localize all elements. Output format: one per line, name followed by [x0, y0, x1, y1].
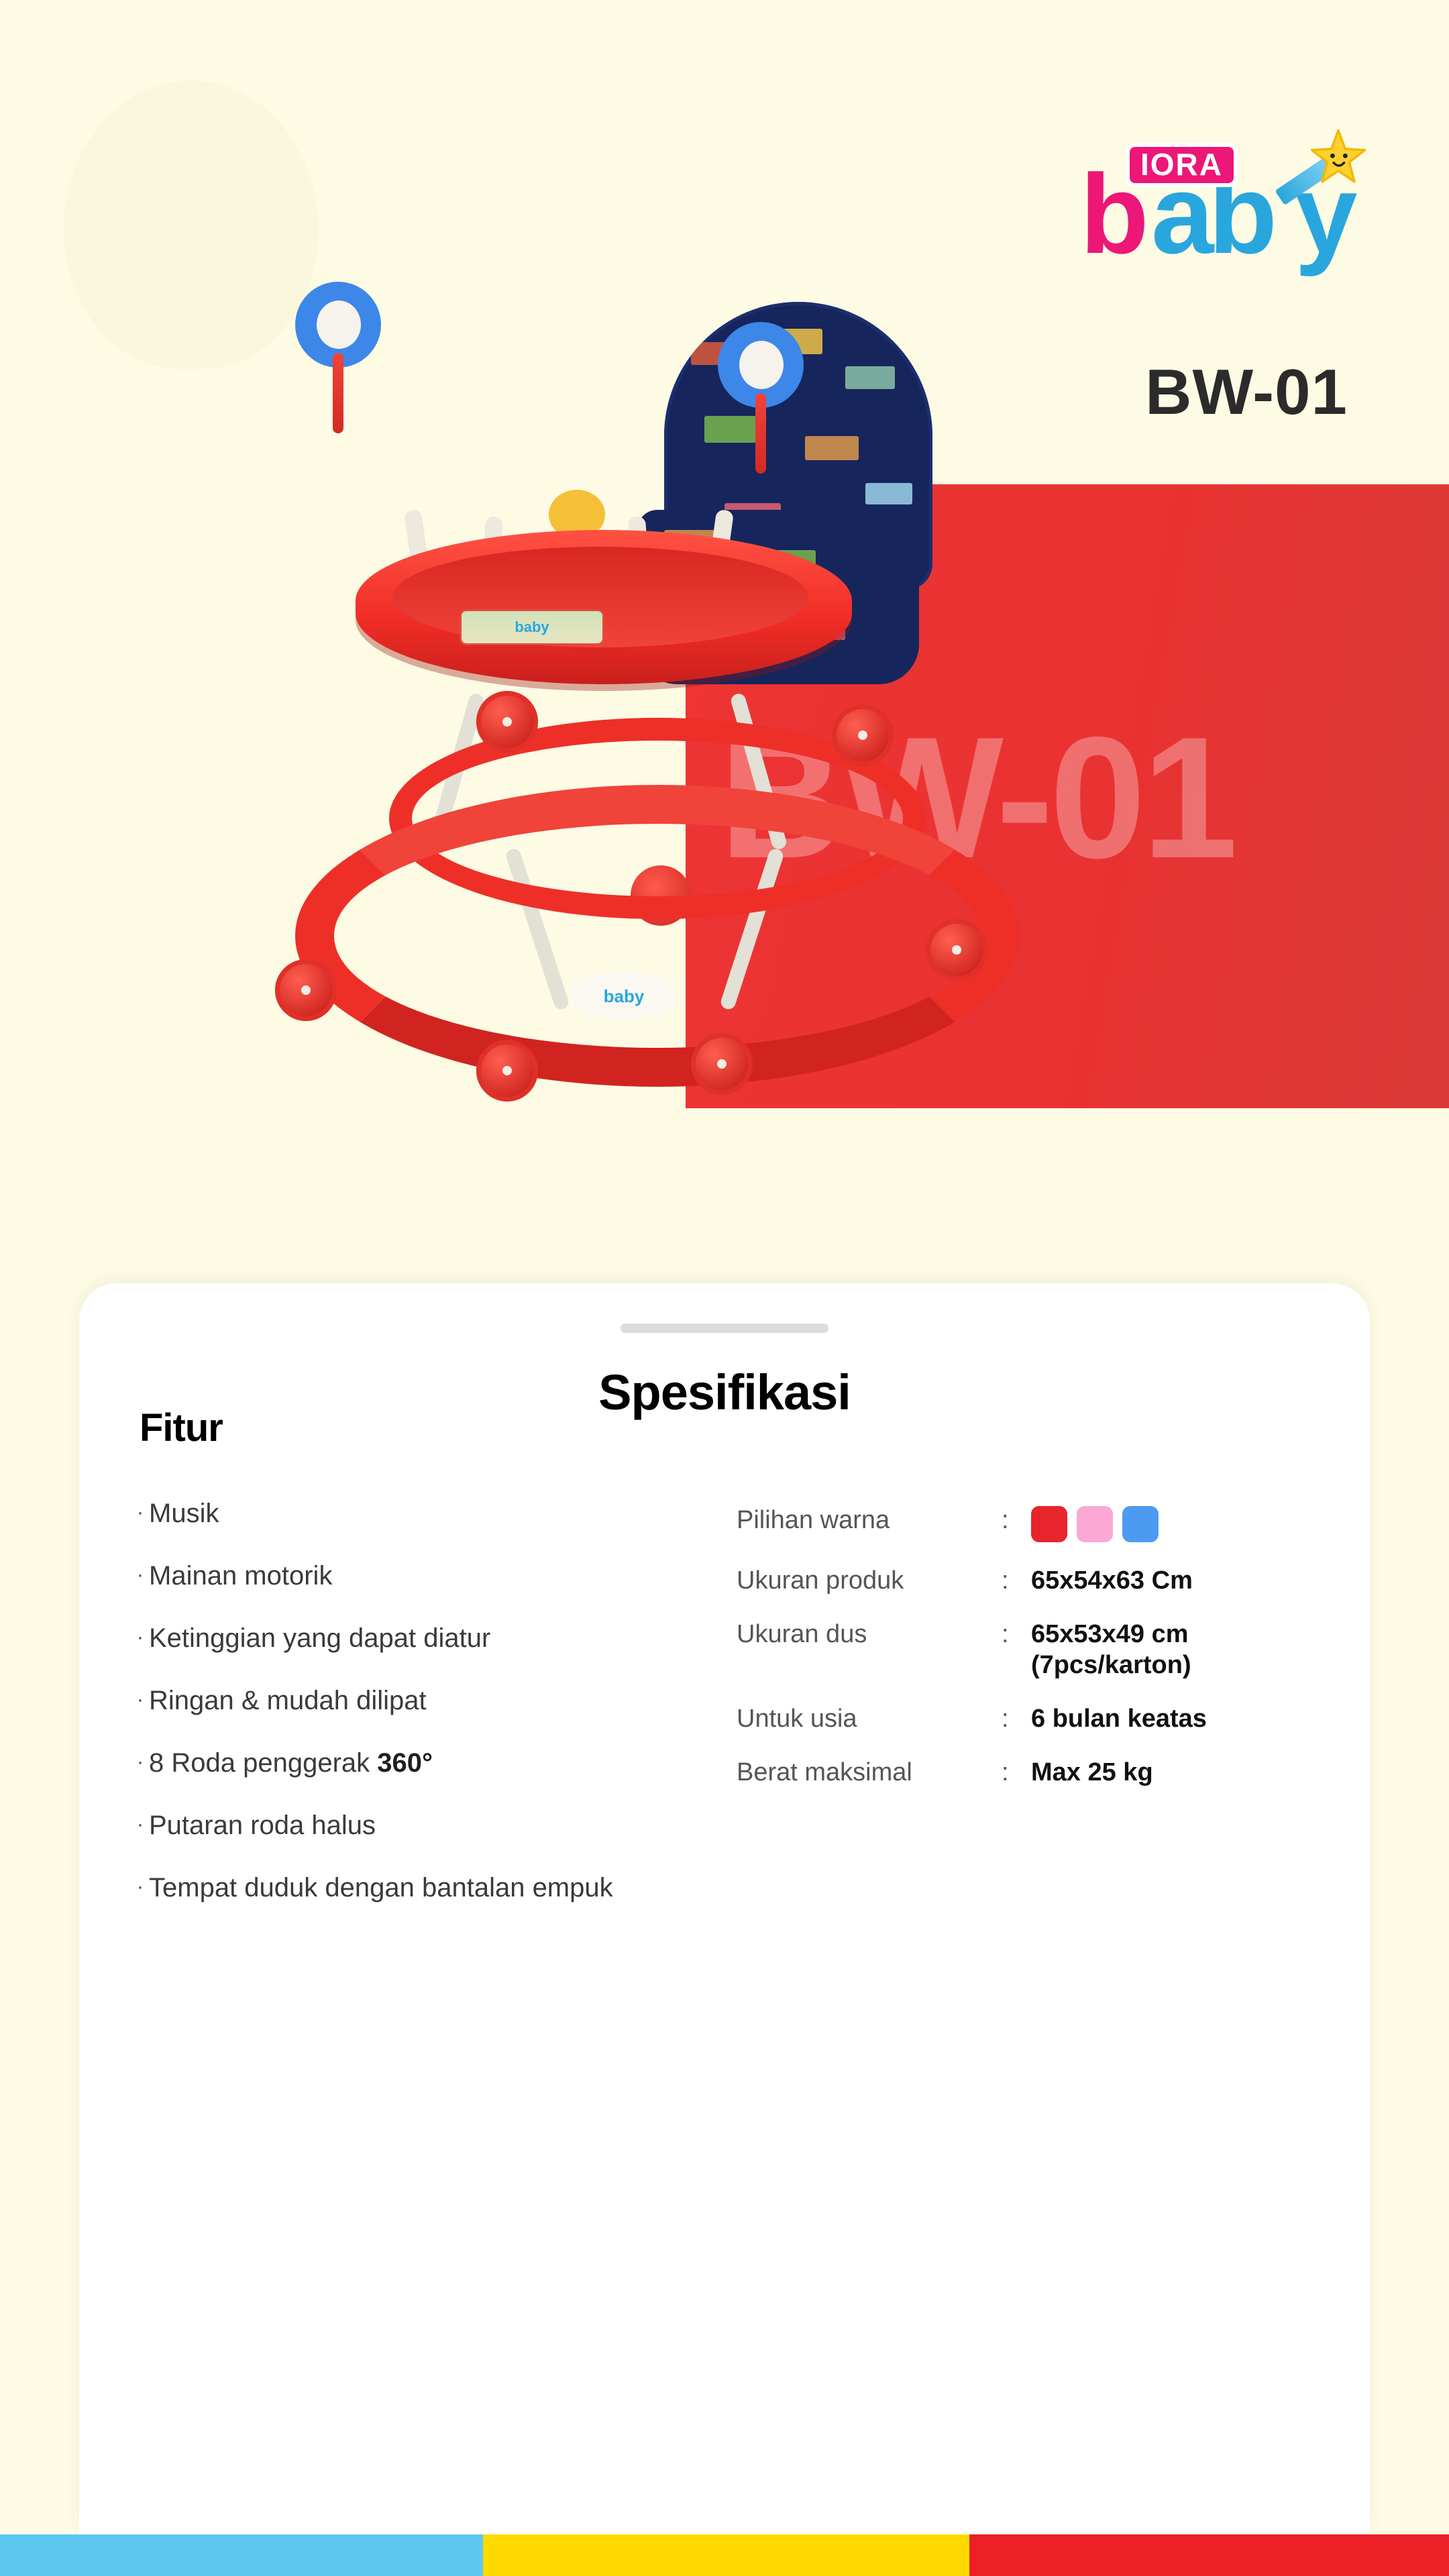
spec-row: Berat maksimal:Max 25 kg [737, 1757, 1327, 1788]
product-image-baby-walker: baby baby [282, 288, 1140, 1181]
feature-item: ·Mainan motorik [131, 1560, 809, 1591]
feature-label: Ringan & mudah dilipat [149, 1685, 427, 1716]
spec-value: 65x53x49 cm(7pcs/karton) [1031, 1619, 1191, 1680]
wheel-front-mid [476, 1040, 538, 1102]
spec-colon: : [1002, 1757, 1031, 1788]
feature-label: Musik [149, 1498, 219, 1529]
bullet-icon: · [131, 1872, 149, 1902]
color-swatch-pink[interactable] [1077, 1506, 1113, 1542]
feature-label: 8 Roda penggerak 360° [149, 1748, 433, 1778]
wheel-back-left [476, 691, 538, 753]
spec-row: Untuk usia:6 bulan keatas [737, 1703, 1327, 1734]
sheet-drag-handle[interactable] [621, 1324, 828, 1333]
star-icon [1309, 128, 1367, 186]
specification-card: Spesifikasi Fitur ·Musik·Mainan motorik·… [79, 1283, 1370, 2534]
spec-label: Berat maksimal [737, 1757, 1002, 1788]
wheel-back-right [832, 704, 894, 766]
spec-label: Pilihan warna [737, 1505, 1002, 1536]
features-list: ·Musik·Mainan motorik·Ketinggian yang da… [131, 1498, 809, 1935]
strip-segment-blue [0, 2534, 483, 2576]
bottom-color-strip [0, 2534, 1449, 2576]
rattle-toy-right [724, 329, 797, 401]
strip-segment-yellow [483, 2534, 969, 2576]
feature-label: Tempat duduk dengan bantalan empuk [149, 1872, 613, 1903]
spec-row: Pilihan warna: [737, 1505, 1327, 1542]
wheel-rear-right [926, 919, 987, 981]
bullet-icon: · [131, 1498, 149, 1527]
feature-label: Putaran roda halus [149, 1810, 376, 1841]
spec-value: Max 25 kg [1031, 1757, 1153, 1788]
music-panel-label: baby [515, 619, 549, 636]
brand-sticker: baby [570, 971, 678, 1021]
feature-item: ·Ringan & mudah dilipat [131, 1685, 809, 1716]
spec-label: Ukuran dus [737, 1619, 1002, 1650]
spec-colon: : [1002, 1703, 1031, 1734]
feature-item: ·8 Roda penggerak 360° [131, 1748, 809, 1778]
bullet-icon: · [131, 1560, 149, 1590]
brand-logo: b ab y IORA [1073, 138, 1389, 285]
walker-base-ring [295, 785, 1020, 1087]
spec-row: Ukuran dus:65x53x49 cm(7pcs/karton) [737, 1619, 1327, 1680]
feature-item: ·Putaran roda halus [131, 1810, 809, 1841]
bullet-icon: · [131, 1685, 149, 1715]
page-title: Spesifikasi [79, 1364, 1370, 1421]
model-code-heading: BW-01 [1119, 356, 1374, 429]
features-heading: Fitur [140, 1405, 223, 1450]
brand-sticker-label: baby [604, 986, 645, 1007]
feature-item: ·Ketinggian yang dapat diatur [131, 1623, 809, 1654]
spec-value: 6 bulan keatas [1031, 1703, 1207, 1734]
strip-segment-red [969, 2534, 1449, 2576]
spec-value: 65x54x63 Cm [1031, 1565, 1193, 1596]
spec-label: Ukuran produk [737, 1565, 1002, 1596]
color-swatch-group [1031, 1505, 1159, 1542]
wheel-front-left [275, 959, 337, 1021]
feature-label: Ketinggian yang dapat diatur [149, 1623, 490, 1654]
rattle-toy-left [302, 288, 374, 361]
color-swatch-red[interactable] [1031, 1506, 1067, 1542]
spec-colon: : [1002, 1619, 1031, 1650]
spec-colon: : [1002, 1505, 1031, 1536]
feature-item: ·Musik [131, 1498, 809, 1529]
bullet-icon: · [131, 1810, 149, 1839]
feature-item: ·Tempat duduk dengan bantalan empuk [131, 1872, 809, 1903]
background-watermark-circle [64, 80, 319, 369]
bullet-icon: · [131, 1623, 149, 1652]
music-panel: baby [460, 609, 604, 645]
parent-brand-badge: IORA [1126, 143, 1238, 187]
color-swatch-blue[interactable] [1122, 1506, 1159, 1542]
specs-list: Pilihan warna:Ukuran produk:65x54x63 CmU… [737, 1505, 1327, 1811]
feature-label: Mainan motorik [149, 1560, 332, 1591]
spec-colon: : [1002, 1565, 1031, 1596]
parent-brand-label: IORA [1140, 149, 1223, 180]
product-listing-page: BW-01 b ab y IORA BW-01 [0, 0, 1449, 2576]
bullet-icon: · [131, 1748, 149, 1777]
spec-row: Ukuran produk:65x54x63 Cm [737, 1565, 1327, 1596]
wheel-front-right [691, 1033, 753, 1095]
spec-label: Untuk usia [737, 1703, 1002, 1734]
